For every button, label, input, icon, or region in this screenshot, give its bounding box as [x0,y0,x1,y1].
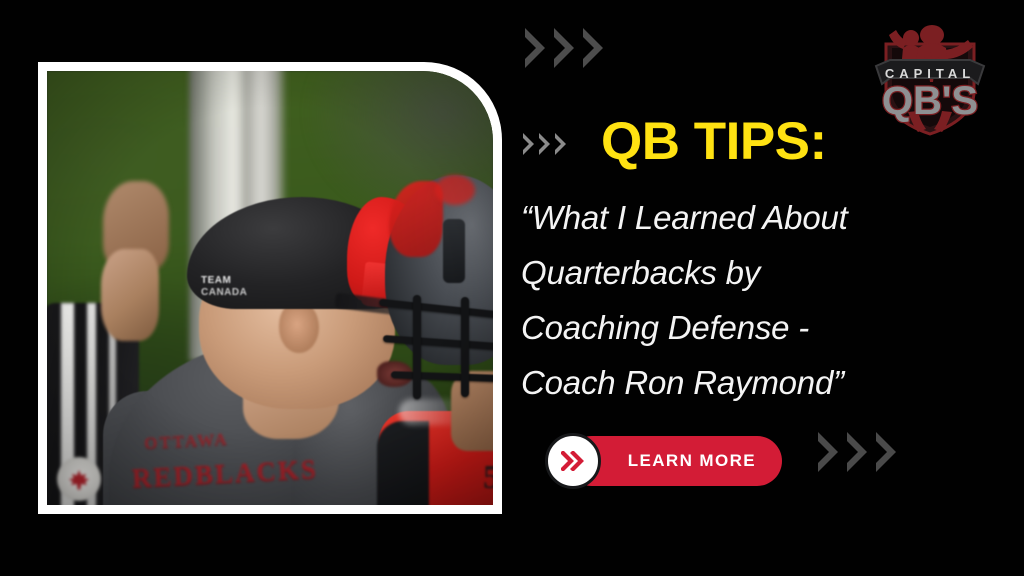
learn-more-label: LEARN MORE [628,451,756,471]
double-chevron-right-icon[interactable] [545,433,601,489]
subtitle-line-4: Coach Ron Raymond” [521,355,961,410]
coach-player-photo: TEAM CANADA OTTAWA REDBLACKS 2 5 [47,71,493,505]
chevron-right-icon [818,432,838,472]
referee-hand [101,249,159,341]
chevron-right-icon [523,133,534,155]
player-helmet-clip [443,219,465,283]
chevron-right-icon [847,432,867,472]
maple-leaf-patch-icon [57,457,101,501]
logo-wordmark: QB'S [882,79,978,123]
facemask-bar [379,299,493,319]
chevron-right-icon [583,28,603,68]
page-title: QB TIPS: [601,114,827,170]
facemask-bar [461,297,469,397]
cap-logo-line1: TEAM [201,275,263,287]
coach-cap-logo: TEAM CANADA [201,275,263,301]
subtitle: “What I Learned About Quarterbacks by Co… [521,190,961,410]
facemask-bar [383,335,493,350]
facemask-bar [413,295,421,399]
promo-banner: { "banner": { "background_color": "#0101… [0,0,1024,576]
photo-card: TEAM CANADA OTTAWA REDBLACKS 2 5 [38,62,502,514]
chevron-right-icon [539,133,550,155]
chevron-right-icon [555,133,566,155]
subtitle-line-1: “What I Learned About [521,190,961,245]
maple-leaf-icon [68,470,90,490]
chevron-right-icon [554,28,574,68]
decorative-chevrons-title [523,133,566,155]
chevron-right-icon [876,432,896,472]
cap-logo-line2: CANADA [201,287,263,299]
decorative-chevrons-bottom [818,432,896,472]
hoodie-line1: OTTAWA [143,419,301,461]
player-jersey-number: 5 [483,459,493,497]
capital-qbs-logo: CAPITAL QB'S [862,8,998,136]
subtitle-line-2: Quarterbacks by [521,245,961,300]
player-jersey-shadow [377,421,429,505]
facemask-bar [391,371,493,382]
player-helmet-red-accent [435,175,475,205]
hoodie-lettering: OTTAWA REDBLACKS [129,419,302,496]
chevron-right-icon [525,28,545,68]
decorative-chevrons-top [525,28,603,68]
subtitle-line-3: Coaching Defense - [521,300,961,355]
player-facemask [377,295,493,413]
